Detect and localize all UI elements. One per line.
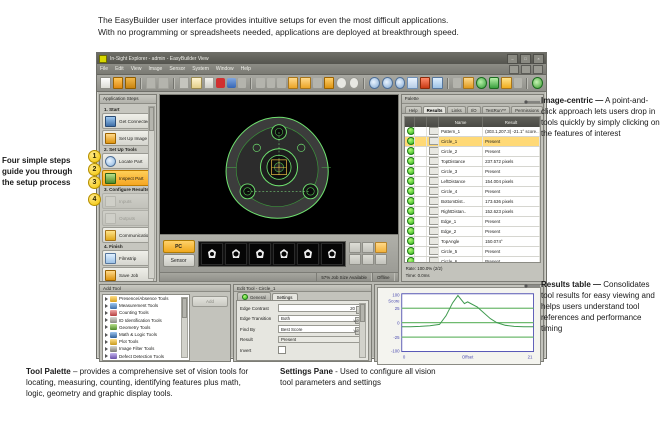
table-row[interactable]: RightDistan..152.623 pixels [405,207,540,217]
tool-category-label: Math & Logic Tools [119,332,157,337]
row-type [427,227,439,237]
xtick-0: 0 [403,354,406,359]
status-ok-icon [407,157,415,165]
ytick-neg100: -100 [391,349,400,354]
settings-scrollbar[interactable] [359,303,366,358]
expand-arrow-icon[interactable] [105,354,108,358]
row-status [405,237,415,247]
tab-links[interactable]: Links [447,106,465,113]
window-title: In-Sight Explorer - admin - EasyBuilder … [110,56,209,62]
undo-icon[interactable] [227,78,236,88]
filmstrip-nav [349,242,395,265]
row-type [427,137,439,147]
field-value: 20 [350,306,355,311]
next-frame-button[interactable] [349,254,361,265]
inspect-icon [105,173,116,184]
result-value: Present [278,336,365,344]
menu-item-window[interactable]: Window [216,66,234,72]
tool-category-measurement[interactable]: Measurement Tools [103,302,189,309]
run-online-icon[interactable] [532,77,543,89]
undo-small-icon [146,77,157,89]
row-status [405,257,415,264]
step-inputs[interactable]: Inputs [102,193,154,209]
palette-tabs: Help Results Links I/O TestRun™ Permissi… [402,104,543,114]
status-ok-icon [407,167,415,175]
window-controls: – □ × [507,54,544,64]
geometry-icon [110,324,117,330]
row-link [415,217,427,227]
step-number-badge-4: 4 [88,193,101,206]
circle-tool-icon [429,187,439,195]
menu-item-edit[interactable]: Edit [115,66,124,72]
tool-category-math-logic[interactable]: Math & Logic Tools [103,331,189,338]
step-label: Outputs [119,216,135,221]
easybuilder-view-icon[interactable] [501,77,512,89]
zoom-region-icon[interactable] [407,77,418,89]
circle-tool-icon [429,167,439,175]
upper-content: Application Steps 1. Start Get Connected… [97,92,546,284]
expand-arrow-icon[interactable] [105,333,108,337]
identification-icon [110,317,117,323]
expand-arrow-icon[interactable] [105,325,108,329]
step-label: Set Up Image [119,136,147,141]
menu-item-help[interactable]: Help [241,66,251,72]
expand-arrow-icon[interactable] [105,311,108,315]
tab-settings[interactable]: Settings [272,293,298,300]
status-ok-icon [407,187,415,195]
row-result: 154.004 pixels [483,177,540,187]
expand-arrow-icon[interactable] [105,297,108,301]
leader-line-image-centric [524,98,542,106]
xlabel-offset: Offset [462,354,474,359]
col-link [415,117,427,127]
field-label: Invert [240,348,278,353]
menu-bar: File Edit View Image Sensor System Windo… [97,64,546,75]
step-outputs[interactable]: Outputs [102,210,154,226]
results-table-body: Pattern_1(303.1,207.3) -21.1° score.. Ci… [405,127,540,263]
time-label: Time: 0.0ms [402,272,543,281]
delete-frame-button[interactable] [375,254,387,265]
table-row[interactable]: Circle_1Present [405,137,540,147]
cut-icon[interactable] [179,77,190,89]
pc-button[interactable]: PC [163,240,195,253]
step-group-label-set-up-tools: 2. Set Up Tools [104,147,154,152]
tool-category-counting[interactable]: Counting Tools [103,309,189,316]
score-plot: 100 Score 25 0 -25 -100 0 Offset 21 [377,287,541,365]
table-row[interactable]: Circle_2Present [405,147,540,157]
connection-status: Offline [372,273,395,281]
settings-scrollbar-thumb[interactable] [360,304,365,322]
row-link [415,257,427,264]
tool-category-label: Measurement Tools [119,303,158,308]
circle-tool-icon [429,147,439,155]
field-value: Best Score [281,327,302,332]
row-link [415,127,427,137]
expand-arrow-icon[interactable] [105,340,108,344]
tool-category-geometry[interactable]: Geometry Tools [103,324,189,331]
annotation-line-3: the setup process [2,177,94,188]
tab-permissions[interactable]: Permissions [511,106,543,113]
tool-category-image-filter[interactable]: Image Filter Tools [103,345,189,352]
open-job-icon[interactable] [113,77,124,89]
edge-contrast-input[interactable]: 20 [278,304,365,312]
step-set-up-image[interactable]: Set Up Image [102,130,154,146]
doc-close-button[interactable] [533,65,543,74]
graph-panel: 100 Score 25 0 -25 -100 0 Offset 21 [374,284,544,362]
tool-category-label: Defect Detection Tools [119,354,164,359]
job-size-status: 57% Job Size Available [316,273,372,281]
filmstrip-frame[interactable] [297,243,319,265]
row-type [427,177,439,187]
field-edge-contrast: Edge Contrast 20 [240,304,365,312]
tab-results[interactable]: Results [423,106,447,113]
tab-help[interactable]: Help [405,106,422,113]
row-status [405,247,415,257]
filmstrip-frame[interactable] [249,243,271,265]
folder-new-icon[interactable] [300,77,311,89]
row-result: Present [483,187,540,197]
locate-icon [105,156,116,167]
row-type [427,147,439,157]
close-button[interactable]: × [533,54,544,64]
step-number-badge-2: 2 [88,163,101,176]
communication-icon [105,230,116,241]
row-name: Circle_6 [439,257,483,264]
maximize-button[interactable]: □ [520,54,531,64]
row-link [415,147,427,157]
row-status [405,137,415,147]
toolbar-separator-3 [250,78,252,89]
field-label: Find By [240,327,278,332]
table-row[interactable]: TopDistance237.572 pixels [405,157,540,167]
tool-category-presence-absence[interactable]: Presence/Absence Tools [103,295,189,302]
annotation-settings-pane: Settings Pane - Used to configure all vi… [280,366,440,388]
edge-tool-icon [429,227,439,235]
tab-io[interactable]: I/O [467,106,481,113]
row-link [415,177,427,187]
step-label: Locate Part [119,159,143,164]
row-result: 152.623 pixels [483,207,540,217]
outputs-icon [105,213,116,224]
table-row[interactable]: Edge_1Present [405,217,540,227]
expand-arrow-icon[interactable] [105,318,108,322]
expand-arrow-icon[interactable] [105,304,108,308]
grid-icon [313,78,322,88]
step-get-connected[interactable]: Get Connected [102,113,154,129]
image-icon [105,133,116,144]
table-row[interactable]: Edge_2Present [405,227,540,237]
settings-tabs: General Settings [234,292,371,300]
row-result: 237.572 pixels [483,157,540,167]
tool-category-label: ID Identification Tools [119,318,162,323]
field-label: Edge Contrast [240,306,278,311]
row-name: BottomDist.. [439,197,483,207]
toolbar-separator-4 [363,78,365,89]
application-steps-panel: Application Steps 1. Start Get Connected… [99,94,157,282]
next-record-icon [277,78,286,88]
filmstrip[interactable] [198,241,346,267]
defect-icon [110,353,117,359]
row-result: Present [483,137,540,147]
row-type [427,217,439,227]
distance-tool-icon [429,207,439,215]
status-ok-icon [407,127,415,135]
intro-text: The EasyBuilder user interface provides … [98,14,638,38]
new-job-icon[interactable] [100,77,111,89]
application-steps-body: 1. Start Get Connected Set Up Image 2. S… [100,104,156,281]
tool-category-label: Geometry Tools [119,325,150,330]
tool-category-label: Presence/Absence Tools [119,296,168,301]
tab-general-label: General [250,295,266,300]
results-table: Name Result Pattern_1(303.1,207.3) -21.1… [405,117,540,263]
minimize-button[interactable]: – [507,54,518,64]
row-link [415,137,427,147]
field-value: Present [281,337,296,342]
part-inspection-graphics [160,95,398,234]
row-result: Present [483,227,540,237]
table-row[interactable]: LeftDistance154.004 pixels [405,177,540,187]
xtick-21: 21 [528,354,533,359]
row-result: 150.074° [483,237,540,247]
intro-line-2: With no programming or spreadsheets need… [98,26,638,38]
row-type [427,257,439,264]
step-save-job[interactable]: Save Job [102,267,154,281]
status-ok-icon [407,217,415,225]
step-communication[interactable]: Communication [102,227,154,243]
save-icon [105,270,116,281]
col-result: Result [483,117,540,127]
tool-category-label: Image Filter Tools [119,346,154,351]
table-row[interactable]: Circle_3Present [405,167,540,177]
fullscreen-icon[interactable] [432,77,443,89]
row-result: (303.1,207.3) -21.1° score.. [483,127,540,137]
tool-category-identification[interactable]: ID Identification Tools [103,317,189,324]
toolbar [97,75,546,92]
ytick-100: 100 [392,293,400,298]
row-result: Present [483,247,540,257]
row-type [427,237,439,247]
tool-list-scrollbar-thumb[interactable] [182,298,187,318]
table-row[interactable]: Circle_4Present [405,187,540,197]
row-link [415,227,427,237]
toolbar-separator [140,78,142,89]
status-ok-icon [407,237,415,245]
field-invert: Invert [240,346,365,354]
row-name: Circle_1 [439,137,483,147]
ytick-0: 0 [397,320,400,325]
tool-category-defect-detection[interactable]: Defect Detection Tools [103,353,189,360]
status-ok-icon [407,227,415,235]
image-bottom-bar: PC Sensor [160,234,398,272]
lower-content: Add Tool Presence/Absence Tools Measurem… [97,284,546,364]
filmstrip-frame[interactable] [273,243,295,265]
annotation-image-centric: Image-centric — A point-and-click approa… [541,95,661,139]
copy-icon[interactable] [191,77,202,89]
tool-category-plot[interactable]: Plot Tools [103,338,189,345]
image-view-panel: PC Sensor [159,94,399,282]
doc-minimize-button[interactable] [509,65,519,74]
steps-scrollbar[interactable] [148,106,155,279]
inputs-icon [105,196,116,207]
settings-gear-icon[interactable] [476,77,487,89]
annotation-four-steps: Four simple steps guide you through the … [2,155,94,188]
settings-pane-panel: Edit Tool - Circle_1 General Settings Ed… [233,284,372,362]
zoom-in-icon[interactable] [382,77,393,89]
step-locate-part[interactable]: Locate Part [102,153,154,169]
distance-tool-icon [429,177,439,185]
ytick-neg25: -25 [393,335,400,340]
step-inspect-part[interactable]: Inspect Part [102,170,154,186]
row-name: Circle_5 [439,247,483,257]
row-name: Edge_1 [439,217,483,227]
step-label: Inputs [119,199,132,204]
row-type [427,187,439,197]
row-type [427,157,439,167]
menu-item-sensor[interactable]: Sensor [169,66,185,72]
results-table-wrapper[interactable]: Name Result Pattern_1(303.1,207.3) -21.1… [404,116,541,263]
circle-tool-icon [429,257,439,263]
tab-testrun[interactable]: TestRun™ [482,106,511,113]
image-display-icon[interactable] [420,77,431,89]
connect-icon [105,116,116,127]
status-bar: 57% Job Size Available Offline [160,272,398,281]
menu-item-system[interactable]: System [192,66,209,72]
invert-checkbox[interactable] [278,346,286,354]
refresh-icon[interactable] [489,77,500,89]
title-bar: In-Sight Explorer - admin - EasyBuilder … [97,53,546,64]
field-find-by: Find By Best Score \u25be [240,325,365,333]
add-tool-button[interactable]: Add [192,296,228,307]
filmstrip-frame[interactable] [225,243,247,265]
palette-icon[interactable] [463,77,474,89]
row-link [415,167,427,177]
row-status [405,227,415,237]
first-frame-button[interactable] [349,242,361,253]
table-row[interactable]: Circle_6Present [405,257,540,264]
save-job-icon[interactable] [125,77,136,89]
expand-arrow-icon[interactable] [105,347,108,351]
status-ok-icon [407,207,415,215]
step-number-badge-3: 3 [88,176,101,189]
toolbar-separator-2 [173,78,175,89]
menu-item-image[interactable]: Image [148,66,162,72]
status-ok-icon [407,177,415,185]
row-status [405,187,415,197]
tool-tree-list[interactable]: Presence/Absence Tools Measurement Tools… [102,294,190,361]
first-record-icon [256,78,265,88]
row-status [405,127,415,137]
settings-form: Edge Contrast 20 Edge Transition Both \u… [236,300,369,361]
filmstrip-frame[interactable] [321,243,343,265]
filter-icon [453,78,462,88]
row-name: Edge_2 [439,227,483,237]
status-ok-icon [407,247,415,255]
menu-item-view[interactable]: View [131,66,142,72]
tab-general[interactable]: General [237,292,271,300]
step-label: Communication [119,233,151,238]
row-result: Present [483,147,540,157]
steps-scrollbar-thumb[interactable] [149,107,154,131]
app-logo-icon [99,55,107,63]
image-canvas[interactable] [160,95,398,234]
tool-palette-panel: Add Tool Presence/Absence Tools Measurem… [99,284,231,362]
delete-icon[interactable] [216,78,225,88]
field-edge-transition: Edge Transition Both \u25be [240,315,365,323]
row-type [427,127,439,137]
row-status [405,197,415,207]
paste-icon[interactable] [204,77,215,89]
last-frame-button[interactable] [362,254,374,265]
step-label: Filmstrip [119,256,136,261]
spreadsheet-view-icon [514,78,523,88]
tool-list-scrollbar[interactable] [181,297,188,358]
folder-up-icon[interactable] [288,77,299,89]
row-result: Present [483,257,540,264]
step-label: Get Connected [119,119,150,124]
status-ok-icon [407,257,415,263]
status-ok-icon [407,137,415,145]
menu-item-file[interactable]: File [100,66,108,72]
sensor-button[interactable]: Sensor [163,254,195,267]
row-name: Circle_2 [439,147,483,157]
palette-panel: Palette Help Results Links I/O TestRun™ … [401,94,544,282]
status-ok-icon [407,147,415,155]
annotation-results-table: Results table — Consolidates tool result… [541,279,661,334]
pattern-tool-icon [429,127,439,135]
results-table-header-row: Name Result [405,117,540,127]
source-selector: PC Sensor [163,240,195,267]
toolbar-separator-5 [447,78,449,89]
score-plot-svg: 100 Score 25 0 -25 -100 0 Offset 21 [378,288,540,364]
edge-transition-select[interactable]: Both \u25be [278,315,365,323]
row-type [427,167,439,177]
doc-restore-button[interactable] [521,65,531,74]
folder-open-icon[interactable] [324,77,335,89]
prev-record-icon [267,78,276,88]
filter-icon [110,346,117,352]
play-frames-button[interactable] [375,242,387,253]
prev-frame-button[interactable] [362,242,374,253]
ytick-25: 25 [395,306,400,311]
field-result: Result Present [240,336,365,344]
intro-line-1: The EasyBuilder user interface provides … [98,14,638,26]
record-icon[interactable] [336,77,347,89]
col-name: Name [439,117,483,127]
application-steps-header: Application Steps [100,95,156,104]
row-name: LeftDistance [439,177,483,187]
step-number-badge-1: 1 [88,150,101,163]
row-name: TopDistance [439,157,483,167]
filmstrip-frame[interactable] [201,243,223,265]
field-value: Both [281,316,290,321]
table-row[interactable]: Pattern_1(303.1,207.3) -21.1° score.. [405,127,540,137]
status-ok-icon [407,197,415,205]
tool-category-label: Plot Tools [119,339,138,344]
row-link [415,157,427,167]
table-row[interactable]: TopAngle150.074° [405,237,540,247]
row-status [405,217,415,227]
field-label: Edge Transition [240,316,278,321]
find-by-select[interactable]: Best Score \u25be [278,325,365,333]
table-row[interactable]: BottomDist..173.636 pixels [405,197,540,207]
col-status [405,117,415,127]
step-filmstrip[interactable]: Filmstrip [102,250,154,266]
annotation-tool-palette: Tool Palette – provides a comprehensive … [26,366,258,399]
table-row[interactable]: Circle_5Present [405,247,540,257]
zoom-fit-icon[interactable] [395,77,406,89]
zoom-out-icon[interactable] [369,77,380,89]
stop-icon[interactable] [349,77,360,89]
